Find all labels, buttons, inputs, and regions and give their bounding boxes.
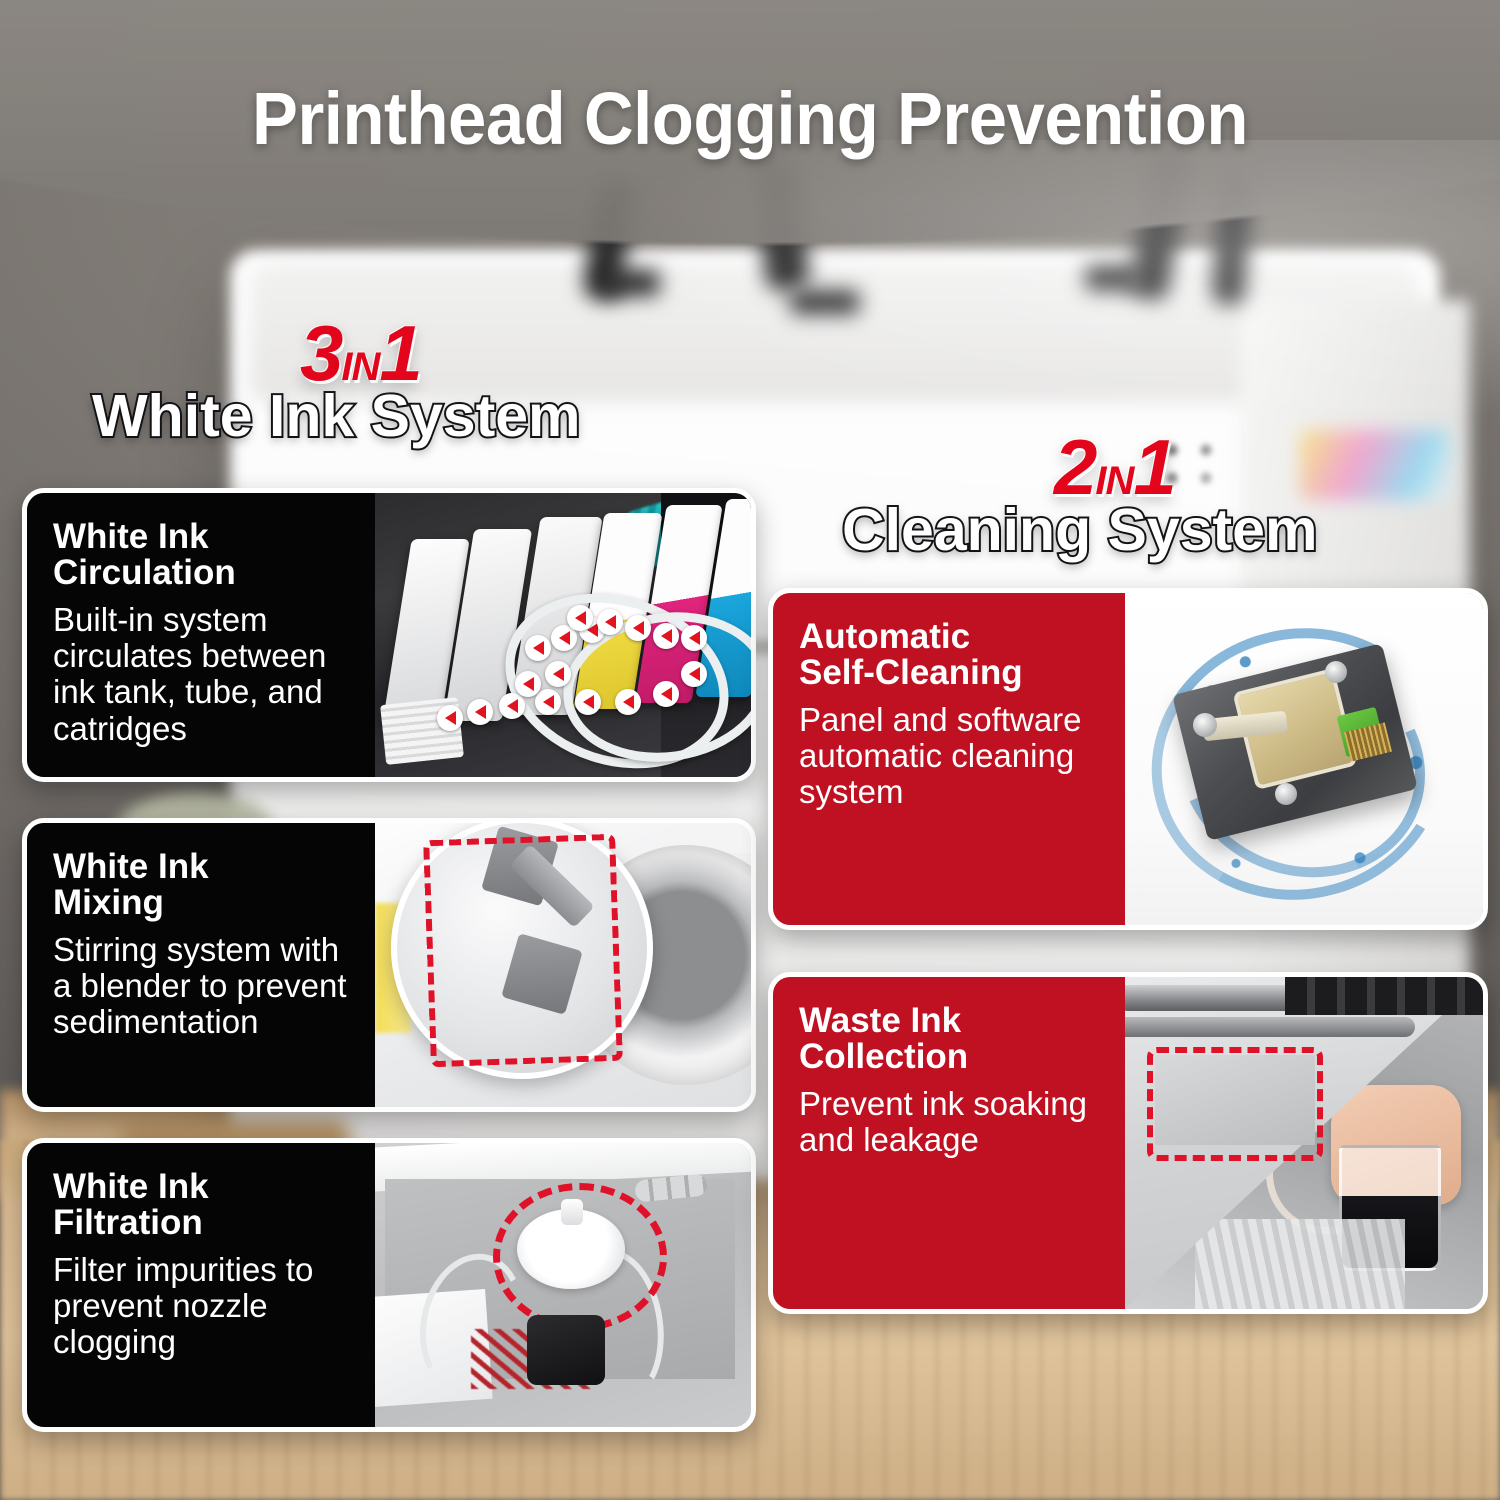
- photo-pump: [527, 1315, 605, 1385]
- card-title: Waste Ink Collection: [799, 1003, 1103, 1076]
- card-title: White Ink Filtration: [53, 1169, 353, 1242]
- card-text-panel: Waste Ink Collection Prevent ink soaking…: [773, 977, 1125, 1309]
- feature-card-white-ink-filtration[interactable]: White Ink Filtration Filter impurities t…: [22, 1138, 756, 1432]
- photo-filter-compartment: [375, 1143, 751, 1427]
- section-heading-white-ink-system: 3IN1 White Ink System: [92, 318, 581, 450]
- circulation-arrow-icon: [499, 693, 525, 719]
- circulation-arrow-icon: [653, 623, 679, 649]
- photo-printhead: [1125, 593, 1483, 925]
- circulation-arrow-icon: [575, 689, 601, 715]
- highlight-dashed-outline: [423, 834, 623, 1068]
- badge-3-in-1: 3IN1: [300, 318, 581, 388]
- highlight-dashed-rectangle: [1147, 1047, 1323, 1161]
- photo-printer-internals: [1195, 1219, 1405, 1309]
- circulation-arrow-icon: [653, 681, 679, 707]
- feature-card-waste-ink-collection[interactable]: Waste Ink Collection Prevent ink soaking…: [768, 972, 1488, 1314]
- card-text-panel: Automatic Self-Cleaning Panel and softwa…: [773, 593, 1125, 925]
- card-title: White Ink Circulation: [53, 519, 353, 592]
- card-title: White Ink Mixing: [53, 849, 353, 922]
- photo-ink-cartridge-bay: [375, 493, 751, 777]
- card-text-panel: White Ink Mixing Stirring system with a …: [27, 823, 375, 1107]
- card-photo-waste-ink: [1125, 977, 1483, 1309]
- circulation-arrow-icon: [681, 625, 707, 651]
- circulation-arrow-icon: [615, 689, 641, 715]
- photo-screw: [1193, 713, 1217, 737]
- circulation-arrow-icon: [437, 705, 463, 731]
- card-photo-ink-cartridges: [375, 493, 751, 777]
- card-body: Built-in system circulates between ink t…: [53, 602, 353, 747]
- card-photo-printhead-splash: [1125, 593, 1483, 925]
- feature-card-white-ink-circulation[interactable]: White Ink Circulation Built-in system ci…: [22, 488, 756, 782]
- feature-card-automatic-self-cleaning[interactable]: Automatic Self-Cleaning Panel and softwa…: [768, 588, 1488, 930]
- photo-roller: [1125, 1017, 1415, 1037]
- feature-card-white-ink-mixing[interactable]: White Ink Mixing Stirring system with a …: [22, 818, 756, 1112]
- circulation-arrow-icon: [625, 615, 651, 641]
- photo-belt: [1285, 977, 1483, 1015]
- section-title-cleaning: Cleaning System: [842, 496, 1317, 564]
- section-title-white-ink: White Ink System: [92, 382, 581, 450]
- circulation-arrow-icon: [681, 661, 707, 687]
- card-title: Automatic Self-Cleaning: [799, 619, 1103, 692]
- circulation-arrow-icon: [545, 661, 571, 687]
- card-text-panel: White Ink Circulation Built-in system ci…: [27, 493, 375, 777]
- circulation-arrow-icon: [567, 605, 593, 631]
- badge-2-in-1: 2IN1: [1054, 432, 1317, 502]
- card-photo-ink-filter: [375, 1143, 751, 1427]
- card-body: Prevent ink soaking and leakage: [799, 1086, 1103, 1159]
- circulation-arrow-icon: [467, 699, 493, 725]
- circulation-arrow-icon: [535, 689, 561, 715]
- page-title: Printhead Clogging Prevention: [53, 76, 1448, 161]
- highlight-dashed-circle: [493, 1183, 667, 1331]
- card-body: Filter impurities to prevent nozzle clog…: [53, 1252, 353, 1361]
- circulation-arrow-icon: [525, 635, 551, 661]
- section-heading-cleaning-system: 2IN1 Cleaning System: [842, 432, 1317, 564]
- card-body: Stirring system with a blender to preven…: [53, 932, 353, 1041]
- card-body: Panel and software automatic cleaning sy…: [799, 702, 1103, 811]
- infographic-root: Printhead Clogging Prevention 3IN1 White…: [0, 0, 1500, 1500]
- photo-screw: [1275, 783, 1297, 805]
- photo-waste-ink-split: [1125, 977, 1483, 1309]
- photo-blender-assembly: [375, 823, 751, 1107]
- card-text-panel: White Ink Filtration Filter impurities t…: [27, 1143, 375, 1427]
- photo-screw: [1325, 661, 1347, 683]
- circulation-arrow-icon: [515, 671, 541, 697]
- card-photo-stirring-blender: [375, 823, 751, 1107]
- circulation-arrow-icon: [597, 609, 623, 635]
